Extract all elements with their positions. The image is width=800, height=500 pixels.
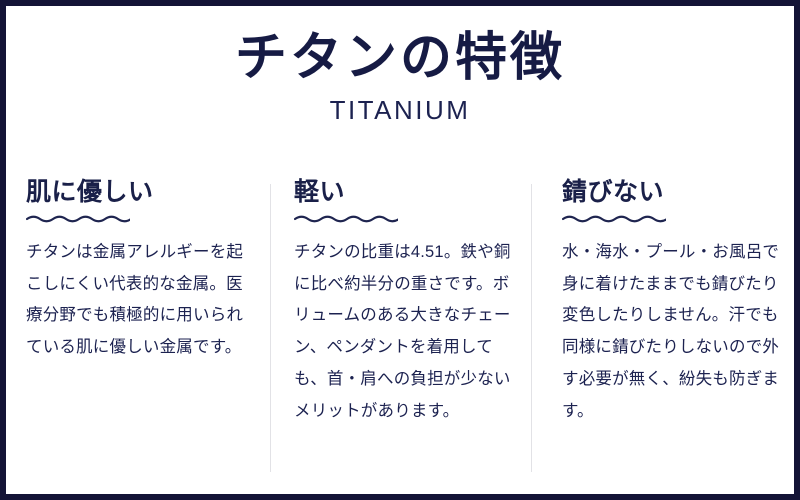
wavy-underline-icon: [294, 214, 398, 223]
feature-column-rust-free: 錆びない 水・海水・プール・お風呂で身に着けたままでも錆びたり変色したりしません…: [528, 178, 794, 428]
page-title: チタンの特徴: [6, 30, 794, 88]
page-subtitle: TITANIUM: [6, 96, 794, 125]
feature-column-skin-friendly: 肌に優しい チタンは金属アレルギーを起こしにくい代表的な金属。医療分野でも積極的…: [6, 178, 270, 364]
feature-column-lightweight: 軽い チタンの比重は4.51。鉄や銅に比べ約半分の重さです。ボリュームのある大き…: [270, 178, 528, 428]
feature-body: チタンの比重は4.51。鉄や銅に比べ約半分の重さです。ボリュームのある大きなチェ…: [294, 237, 516, 428]
titanium-features-card: チタンの特徴 TITANIUM 肌に優しい チタンは金属アレルギーを起こしにくい…: [0, 0, 800, 500]
feature-columns: 肌に優しい チタンは金属アレルギーを起こしにくい代表的な金属。医療分野でも積極的…: [6, 178, 794, 478]
feature-heading: 軽い: [294, 178, 528, 207]
feature-body: 水・海水・プール・お風呂で身に着けたままでも錆びたり変色したりしません。汗でも同…: [562, 237, 790, 428]
feature-heading: 肌に優しい: [26, 178, 270, 207]
card-header: チタンの特徴 TITANIUM: [6, 30, 794, 125]
wavy-underline-icon: [26, 214, 130, 223]
wavy-underline-icon: [562, 214, 666, 223]
feature-body: チタンは金属アレルギーを起こしにくい代表的な金属。医療分野でも積極的に用いられて…: [26, 237, 252, 364]
feature-heading: 錆びない: [562, 178, 794, 207]
